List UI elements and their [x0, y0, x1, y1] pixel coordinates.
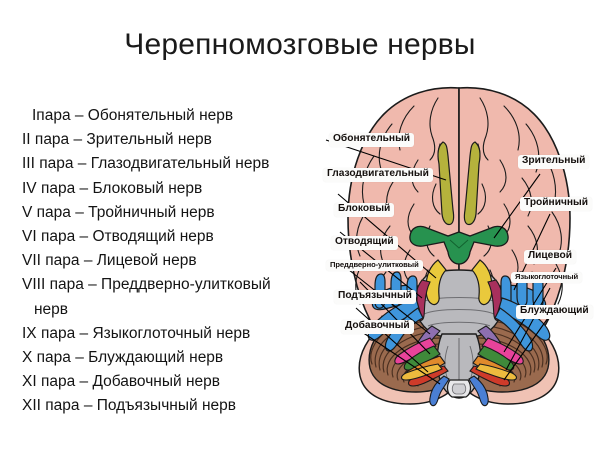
label-facial: Лицевой — [524, 250, 576, 264]
label-optic: Зрительный — [518, 155, 589, 169]
list-item: Iпара – Обонятельный нерв — [22, 104, 322, 128]
label-vagus: Блуждающий — [516, 305, 593, 319]
list-item: XII пара – Подъязычный нерв — [22, 394, 322, 418]
label-oculomotor: Глазодвигательный — [323, 168, 433, 182]
list-item: VII пара – Лицевой нерв — [22, 249, 322, 273]
label-trigeminal: Тройничный — [520, 197, 592, 211]
label-vestibulocochlear: Преддверно-улитковый — [326, 260, 423, 271]
list-item: VI пара – Отводящий нерв — [22, 225, 322, 249]
list-item: IV пара – Блоковый нерв — [22, 177, 322, 201]
label-olfactory: Обонятельный — [329, 133, 414, 147]
list-item: II пара – Зрительный нерв — [22, 128, 322, 152]
label-abducens: Отводящий — [331, 236, 398, 250]
label-accessory: Добавочный — [341, 320, 414, 334]
list-item: X пара – Блуждающий нерв — [22, 346, 322, 370]
list-item: XI пара – Добавочный нерв — [22, 370, 322, 394]
label-trochlear: Блоковый — [334, 203, 394, 217]
list-item: V пара – Тройничный нерв — [22, 201, 322, 225]
cranial-nerve-list: Iпара – Обонятельный нерв II пара – Зрит… — [22, 104, 322, 419]
list-item: III пара – Глазодвигательный нерв — [22, 152, 322, 176]
list-item: IX пара – Языкоглоточный нерв — [22, 322, 322, 346]
label-glossopharyngeal: Языкоглоточный — [511, 272, 582, 283]
list-item: VIII пара – Преддверно-улитковый нерв — [22, 273, 284, 321]
label-hypoglossal: Подъязычный — [334, 290, 416, 304]
page-title: Черепномозговые нервы — [0, 28, 600, 62]
slide-root: Черепномозговые нервы Iпара – Обонятельн… — [0, 0, 600, 450]
